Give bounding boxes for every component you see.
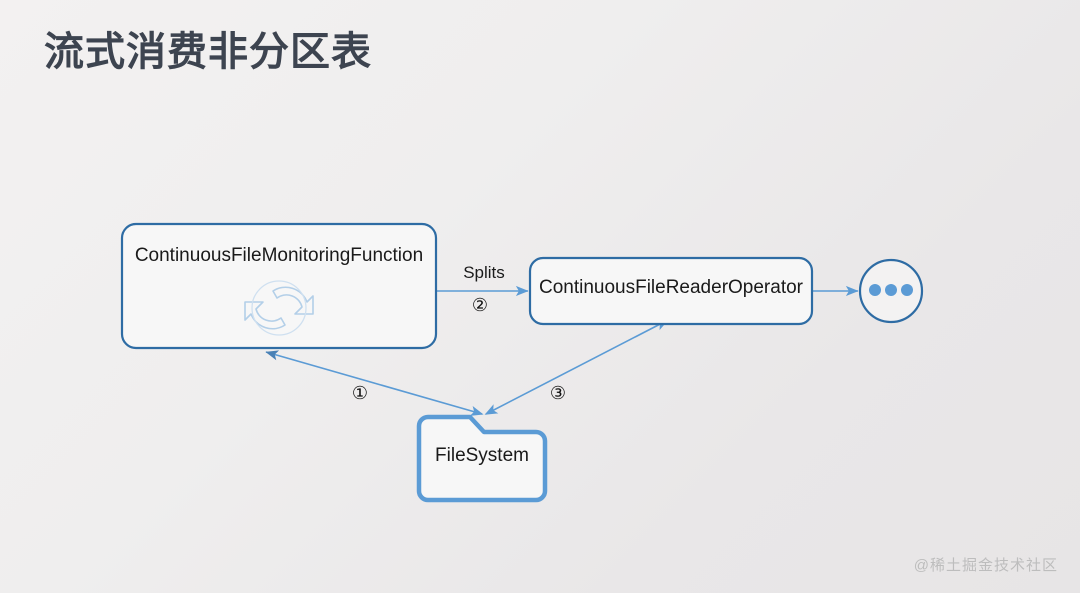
node-label-monitoring-function: ContinuousFileMonitoringFunction bbox=[122, 245, 436, 267]
node-downstream-ellipsis[interactable] bbox=[860, 260, 922, 322]
step-marker-3: ③ bbox=[534, 383, 582, 404]
node-monitoring-function[interactable] bbox=[122, 224, 436, 348]
node-label-reader-operator: ContinuousFileReaderOperator bbox=[530, 277, 812, 299]
edge-label-splits: Splits bbox=[440, 263, 528, 283]
step-marker-2: ② bbox=[456, 295, 504, 316]
ellipsis-dots-icon bbox=[869, 284, 913, 296]
slide-canvas: 流式消费非分区表 bbox=[0, 0, 1080, 593]
step-marker-1: ① bbox=[336, 383, 384, 404]
watermark: @稀土掘金技术社区 bbox=[914, 554, 1058, 575]
node-label-file-system: FileSystem bbox=[419, 445, 545, 467]
